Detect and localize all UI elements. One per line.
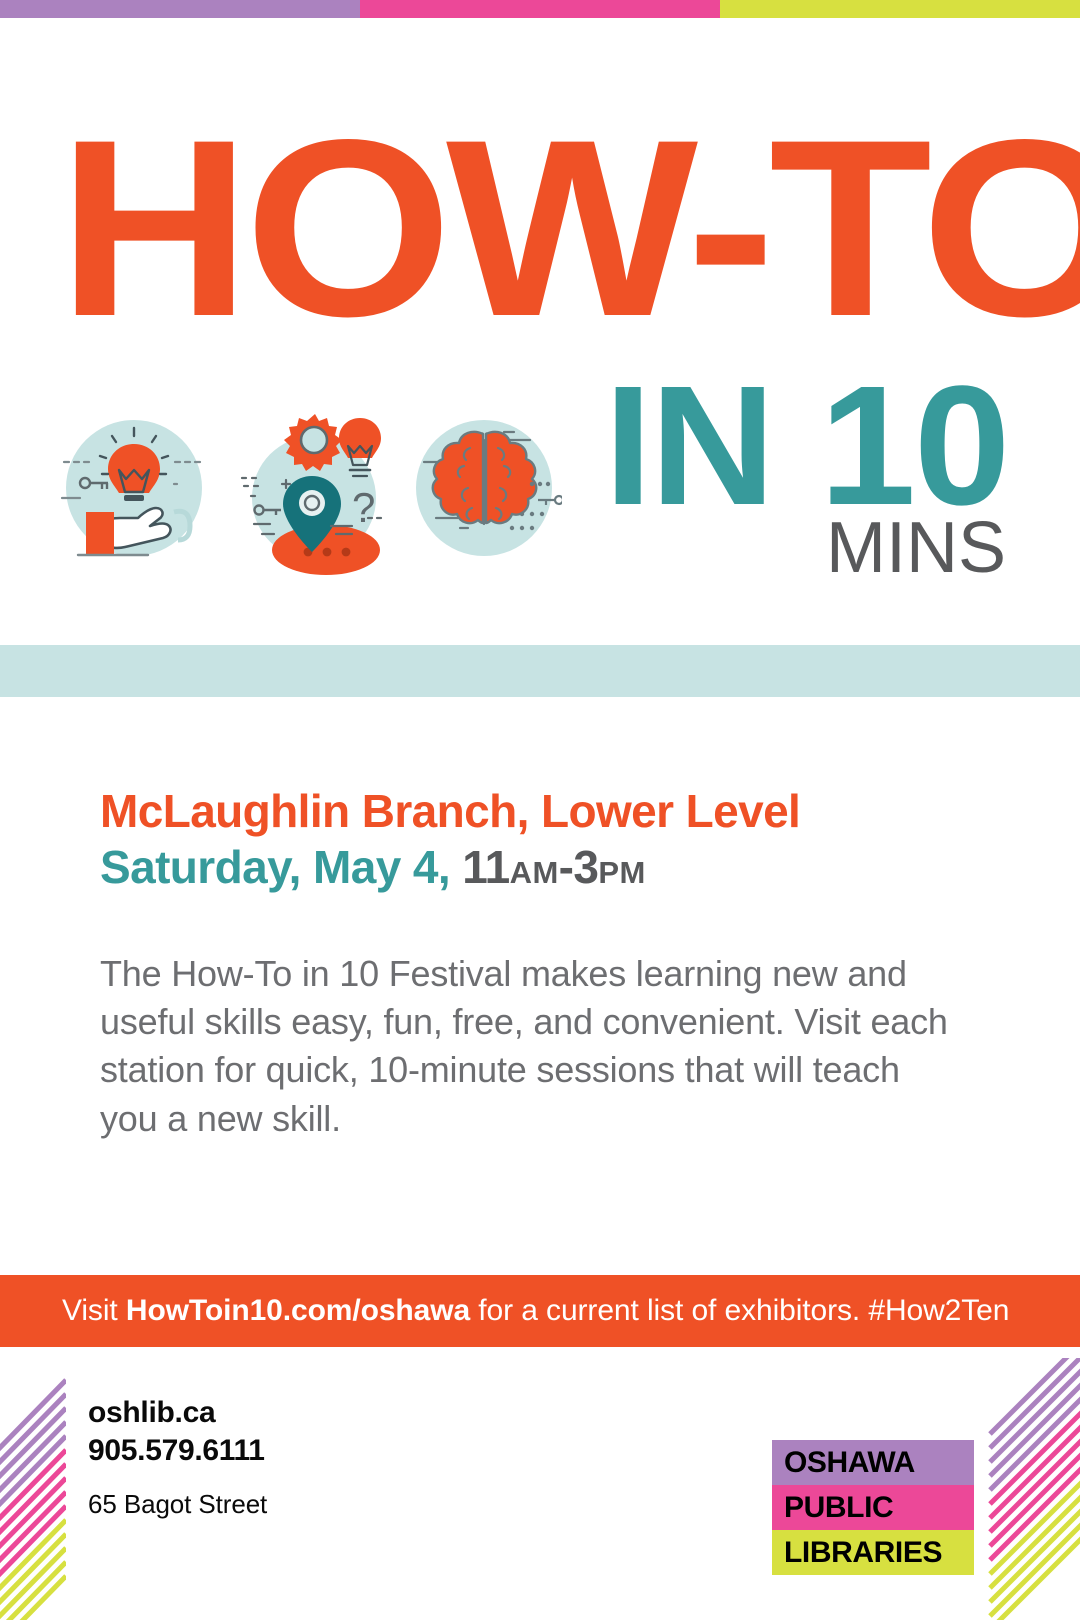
- event-details: McLaughlin Branch, Lower Level Saturday,…: [100, 787, 1000, 892]
- hand-lightbulb-icon: [56, 400, 206, 570]
- left-diagonal-stripes: [0, 1368, 66, 1620]
- cta-suffix: for a current list of exhibitors. #How2T…: [470, 1294, 1009, 1327]
- top-color-bar: [0, 0, 1080, 18]
- cta-text: Visit HowToin10.com/oshawa for a current…: [0, 1294, 1009, 1328]
- logo-row-libraries: LIBRARIES: [772, 1530, 974, 1575]
- cta-prefix: Visit: [62, 1294, 126, 1327]
- logo-text-public: PUBLIC: [784, 1491, 893, 1525]
- svg-text:?: ?: [352, 484, 375, 531]
- subhead-block: IN 10 MINS: [612, 368, 1008, 580]
- poster-canvas: HOW-TO IN 10 MINS: [0, 0, 1080, 1620]
- footer-contact-block: oshlib.ca 905.579.6111 65 Bagot Street: [88, 1394, 267, 1520]
- headline-block: HOW-TO: [58, 118, 1038, 340]
- top-bar-segment-pink: [360, 0, 720, 18]
- right-diagonal-stripes: [974, 1358, 1080, 1620]
- top-bar-segment-lime: [720, 0, 1080, 18]
- time-start-number: 11: [462, 841, 509, 893]
- time-start-meridiem: AM: [510, 855, 559, 890]
- top-bar-segment-purple: [0, 0, 360, 18]
- cta-band: Visit HowToin10.com/oshawa for a current…: [0, 1275, 1080, 1347]
- logo-row-oshawa: OSHAWA: [772, 1440, 974, 1485]
- address-text: 65 Bagot Street: [88, 1489, 267, 1520]
- time-dash: -: [559, 841, 574, 893]
- brain-icon: ?: [412, 400, 562, 570]
- logo-text-libraries: LIBRARIES: [784, 1536, 942, 1570]
- event-date: Saturday, May 4,: [100, 841, 450, 893]
- logo-row-public: PUBLIC: [772, 1485, 974, 1530]
- oshawa-public-libraries-logo: OSHAWA PUBLIC LIBRARIES: [772, 1440, 974, 1575]
- teal-divider-band: [0, 645, 1080, 697]
- event-description: The How-To in 10 Festival makes learning…: [100, 950, 960, 1143]
- cta-link[interactable]: HowToin10.com/oshawa: [126, 1294, 470, 1327]
- headline-text: HOW-TO: [58, 118, 1080, 340]
- logo-text-oshawa: OSHAWA: [784, 1446, 915, 1480]
- time-end-number: 3: [573, 841, 598, 893]
- website-text[interactable]: oshlib.ca: [88, 1394, 267, 1432]
- icon-row: ?: [56, 400, 562, 570]
- datetime-line: Saturday, May 4, 11AM-3PM: [100, 843, 1000, 893]
- gear-pin-question-icon: ?: [234, 400, 384, 570]
- subhead-in-10: IN 10: [604, 368, 1008, 524]
- time-end-meridiem: PM: [598, 855, 645, 890]
- phone-text[interactable]: 905.579.6111: [88, 1432, 267, 1470]
- venue-line: McLaughlin Branch, Lower Level: [100, 787, 1000, 837]
